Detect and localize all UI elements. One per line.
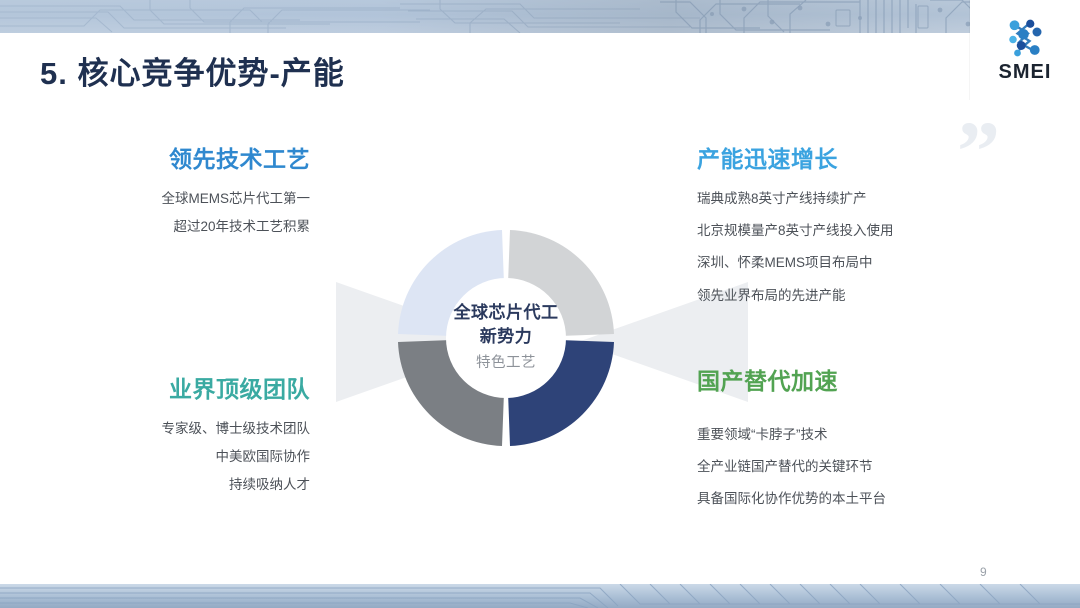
block-heading-capacity: 产能迅速增长 xyxy=(697,140,987,174)
smei-molecule-icon xyxy=(1002,17,1048,59)
block-line: 超过20年技术工艺积累 xyxy=(60,218,310,236)
block-line: 领先业界布局的先进产能 xyxy=(697,287,987,305)
donut-hole xyxy=(446,278,566,398)
donut-chart: 全球芯片代工 新势力 特色工艺 xyxy=(390,222,622,454)
slide-canvas: SMEI 5. 核心竞争优势-产能 ” 全球芯片代工 新势力 xyxy=(0,0,1080,608)
block-top-team: 业界顶级团队 专家级、博士级技术团队 中美欧国际协作 持续吸纳人才 xyxy=(60,370,310,505)
block-line: 深圳、怀柔MEMS项目布局中 xyxy=(697,254,987,272)
block-capacity-growth: 产能迅速增长 瑞典成熟8英寸产线持续扩产 北京规模量产8英寸产线投入使用 深圳、… xyxy=(697,140,987,319)
circuit-pattern-top xyxy=(0,0,1080,33)
brand-logo: SMEI xyxy=(970,0,1080,100)
spacer xyxy=(697,412,987,426)
block-line: 具备国际化协作优势的本土平台 xyxy=(697,490,987,508)
block-line: 全产业链国产替代的关键环节 xyxy=(697,458,987,476)
logo-text: SMEI xyxy=(999,61,1052,84)
block-line: 全球MEMS芯片代工第一 xyxy=(60,190,310,208)
block-line: 专家级、博士级技术团队 xyxy=(60,420,310,438)
block-line: 重要领域“卡脖子”技术 xyxy=(697,426,987,444)
block-domestic-substitution: 国产替代加速 重要领域“卡脖子”技术 全产业链国产替代的关键环节 具备国际化协作… xyxy=(697,362,987,523)
page-title: 5. 核心竞争优势-产能 xyxy=(40,48,345,93)
block-leading-technology: 领先技术工艺 全球MEMS芯片代工第一 超过20年技术工艺积累 xyxy=(60,140,310,246)
block-line: 瑞典成熟8英寸产线持续扩产 xyxy=(697,190,987,208)
block-heading-tech: 领先技术工艺 xyxy=(60,140,310,174)
block-line: 中美欧国际协作 xyxy=(60,448,310,466)
block-line: 持续吸纳人才 xyxy=(60,476,310,494)
page-number: 9 xyxy=(980,565,987,579)
block-heading-domestic: 国产替代加速 xyxy=(697,362,987,396)
block-heading-team: 业界顶级团队 xyxy=(60,370,310,404)
circuit-pattern-bottom xyxy=(0,584,1080,608)
block-line: 北京规模量产8英寸产线投入使用 xyxy=(697,222,987,240)
